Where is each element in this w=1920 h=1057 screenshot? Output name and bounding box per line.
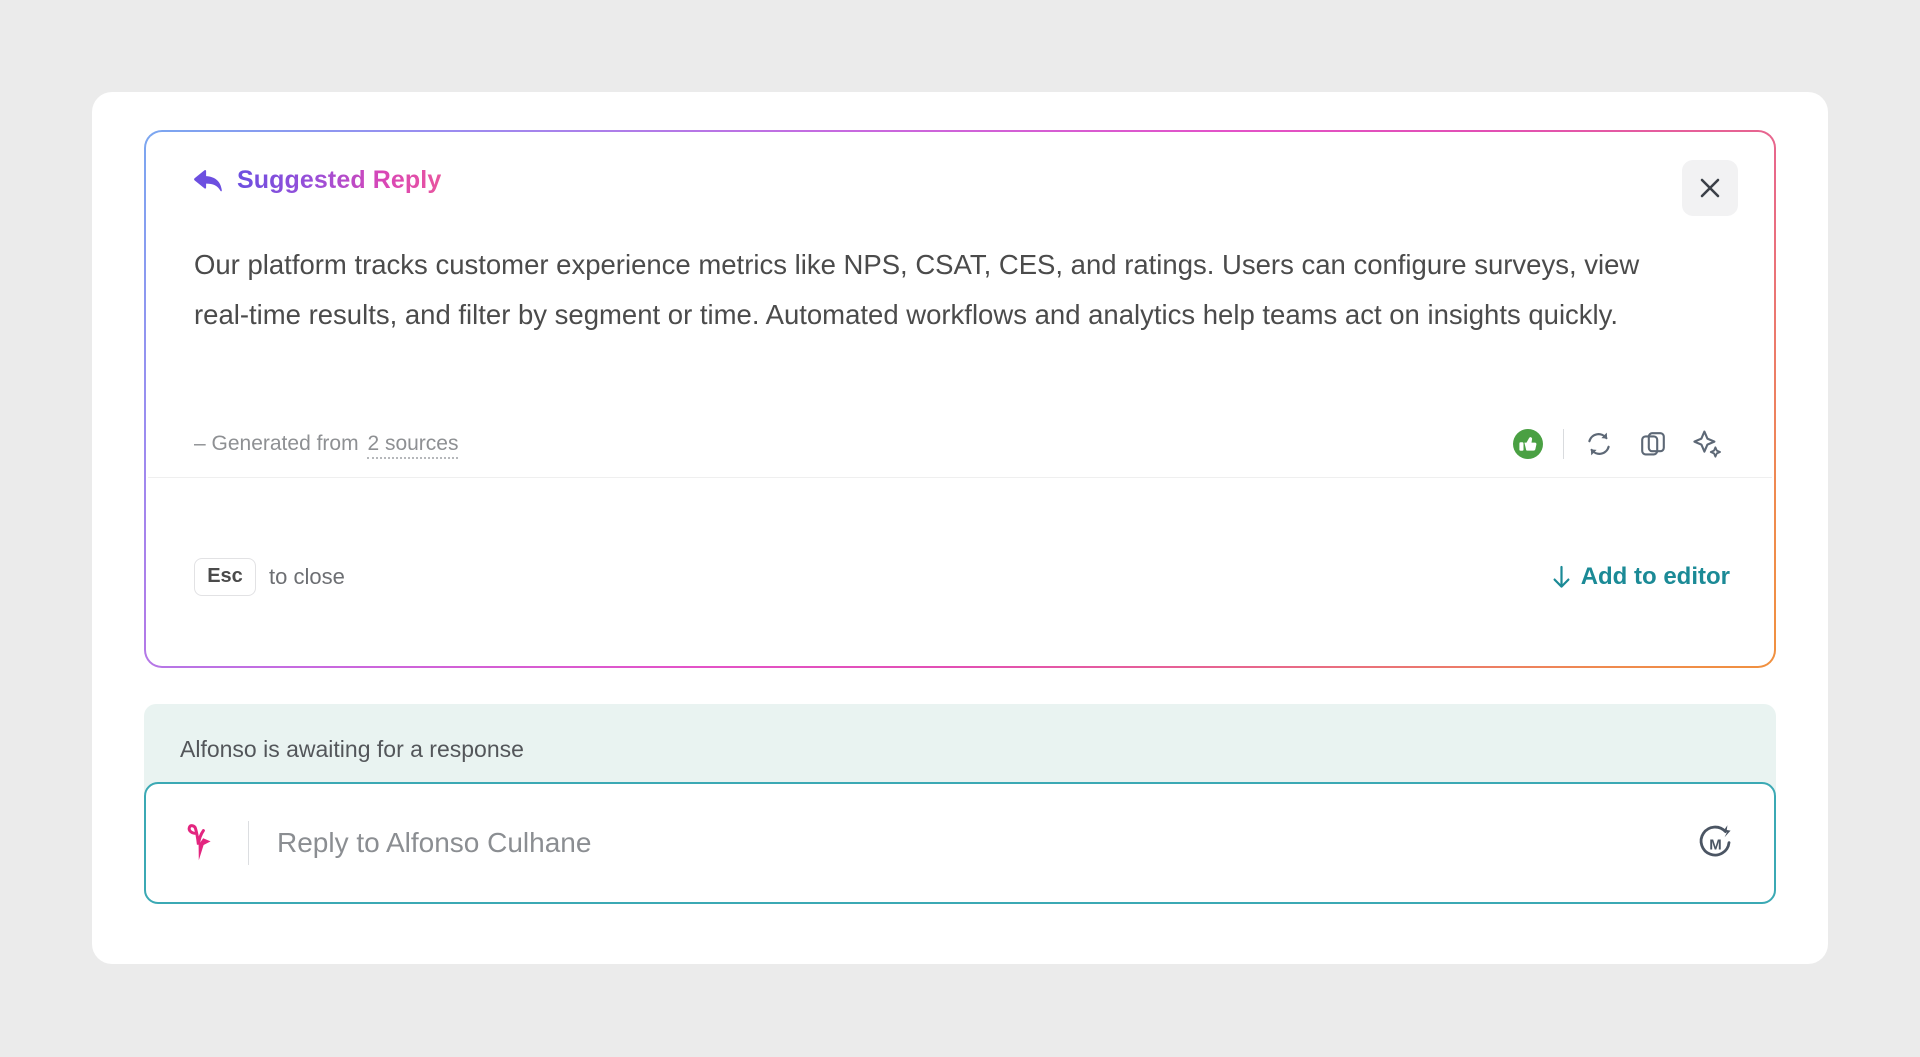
sparkle-icon xyxy=(1692,429,1722,459)
generated-prefix: – Generated from xyxy=(194,432,359,455)
reply-input-row[interactable]: M xyxy=(144,782,1776,904)
suggested-reply-card-inner: Suggested Reply Our platform tracks cust… xyxy=(146,132,1774,666)
add-to-editor-button[interactable]: Add to editor xyxy=(1552,563,1730,591)
macro-button[interactable]: M xyxy=(1688,815,1744,871)
awaiting-response-banner: Alfonso is awaiting for a response xyxy=(144,704,1776,794)
thumbs-up-icon xyxy=(1511,427,1545,461)
generated-from-label: – Generated from 2 sources xyxy=(194,432,458,456)
esc-hint-label: to close xyxy=(269,564,345,590)
suggested-reply-card: Suggested Reply Our platform tracks cust… xyxy=(144,130,1776,668)
macro-icon: M xyxy=(1694,821,1738,865)
reply-input[interactable] xyxy=(277,827,1688,859)
sources-link[interactable]: 2 sources xyxy=(367,432,458,459)
reply-arrow-icon xyxy=(193,168,223,194)
input-divider xyxy=(248,821,249,865)
card-footer: Esc to close Add to editor xyxy=(194,487,1730,666)
action-divider xyxy=(1563,429,1564,459)
add-to-editor-label: Add to editor xyxy=(1581,563,1730,591)
sparkle-button[interactable] xyxy=(1680,422,1734,466)
app-window: Suggested Reply Our platform tracks cust… xyxy=(92,92,1828,964)
esc-hint: Esc to close xyxy=(194,558,345,596)
action-icons xyxy=(1501,422,1734,466)
close-button[interactable] xyxy=(1682,160,1738,216)
copy-button[interactable] xyxy=(1626,422,1680,466)
meta-row: – Generated from 2 sources xyxy=(194,422,1734,466)
regenerate-button[interactable] xyxy=(1572,422,1626,466)
ai-sparkle-icon[interactable] xyxy=(180,820,222,866)
close-icon xyxy=(1699,177,1721,199)
card-divider xyxy=(148,477,1772,478)
svg-text:M: M xyxy=(1709,837,1722,854)
reply-body-text: Our platform tracks customer experience … xyxy=(194,240,1694,340)
page-title: Suggested Reply xyxy=(237,166,441,195)
copy-icon xyxy=(1638,429,1668,459)
thumbs-up-button[interactable] xyxy=(1501,422,1555,466)
regenerate-icon xyxy=(1584,429,1614,459)
awaiting-status-text: Alfonso is awaiting for a response xyxy=(180,736,524,763)
arrow-down-icon xyxy=(1552,565,1571,589)
card-header: Suggested Reply xyxy=(193,166,441,195)
esc-key-cap: Esc xyxy=(194,558,256,596)
